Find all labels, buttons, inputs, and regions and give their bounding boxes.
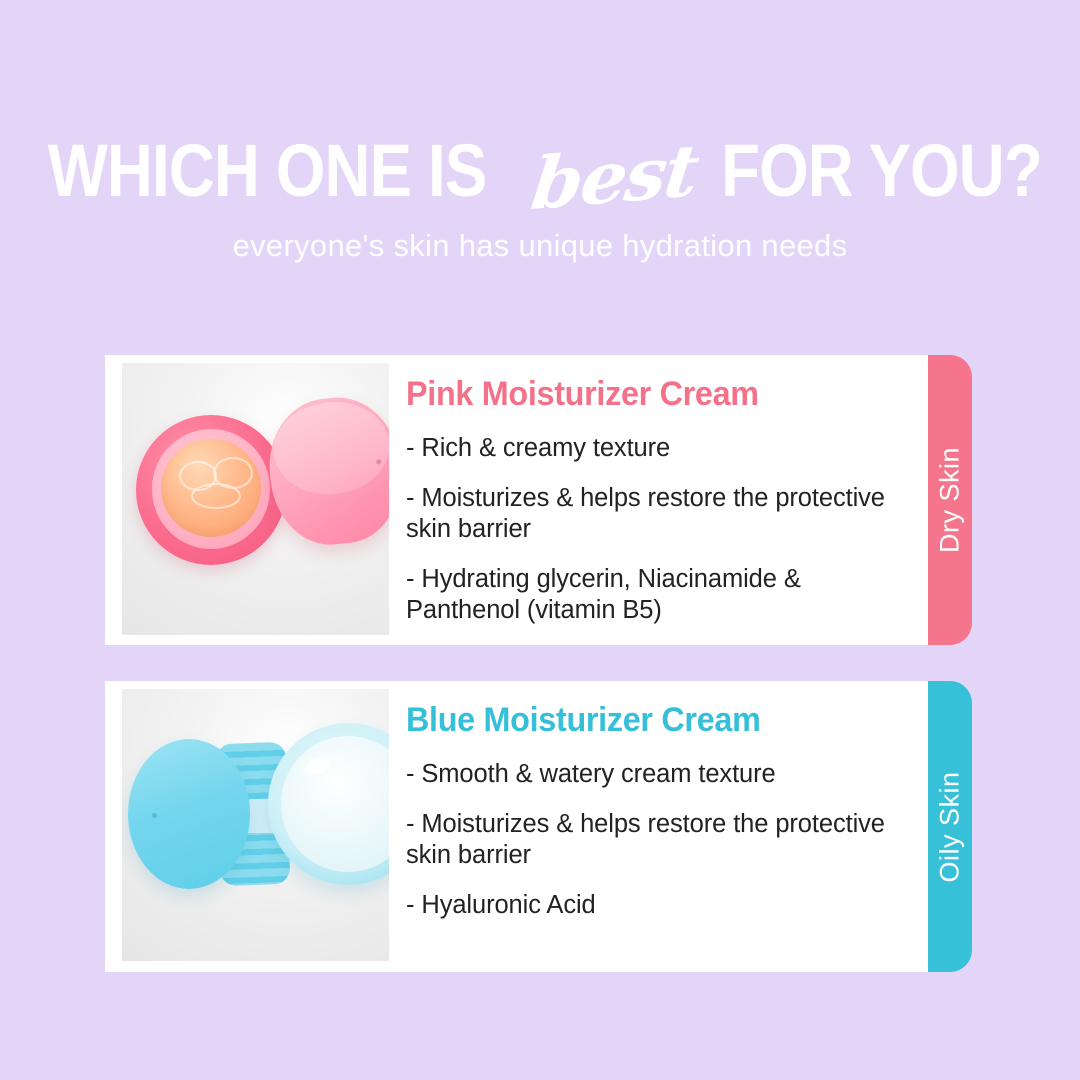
card-content-pink: Pink Moisturizer Cream - Rich & creamy t… xyxy=(406,355,911,645)
product-title-pink: Pink Moisturizer Cream xyxy=(406,375,886,414)
product-bullet: - Hyaluronic Acid xyxy=(406,890,911,921)
product-card-pink: Pink Moisturizer Cream - Rich & creamy t… xyxy=(105,355,972,645)
pink-jar-base xyxy=(136,415,286,565)
headline-script-word: best xyxy=(527,134,700,220)
product-image-pink xyxy=(122,363,389,635)
pink-jar-cream xyxy=(161,439,261,537)
product-card-blue: Blue Moisturizer Cream - Smooth & watery… xyxy=(105,681,972,972)
skin-type-tab-dry: Dry Skin xyxy=(928,355,972,645)
blue-lid-dot-icon xyxy=(152,813,157,818)
pink-jar-inner-rim xyxy=(152,429,270,549)
skin-type-tab-label: Oily Skin xyxy=(935,771,966,882)
product-bullet: - Moisturizes & helps restore the protec… xyxy=(406,483,911,545)
header: WHICH ONE ISbestFOR YOU? everyone's skin… xyxy=(0,0,1080,300)
headline-part-1: WHICH ONE IS xyxy=(48,134,487,208)
card-content-blue: Blue Moisturizer Cream - Smooth & watery… xyxy=(406,681,911,972)
headline-part-2: FOR YOU? xyxy=(721,134,1042,208)
product-image-blue xyxy=(122,689,389,961)
page-subheadline: everyone's skin has unique hydration nee… xyxy=(0,228,1080,264)
product-bullet: - Smooth & watery cream texture xyxy=(406,759,911,790)
product-bullet: - Hydrating glycerin, Niacinamide & Pant… xyxy=(406,564,911,626)
highlight-icon xyxy=(303,753,333,778)
blue-jar-lid xyxy=(128,739,250,889)
blue-jar-cream xyxy=(281,736,389,872)
skin-type-tab-oily: Oily Skin xyxy=(928,681,972,972)
product-bullet: - Moisturizes & helps restore the protec… xyxy=(406,809,911,871)
page-headline: WHICH ONE ISbestFOR YOU? xyxy=(0,134,1080,208)
pink-jar-lid xyxy=(263,392,389,551)
product-title-blue: Blue Moisturizer Cream xyxy=(406,701,886,740)
pink-lid-top xyxy=(269,396,389,500)
cream-swirl-icon xyxy=(191,483,241,509)
skin-type-tab-label: Dry Skin xyxy=(935,447,966,553)
product-bullet: - Rich & creamy texture xyxy=(406,433,911,464)
